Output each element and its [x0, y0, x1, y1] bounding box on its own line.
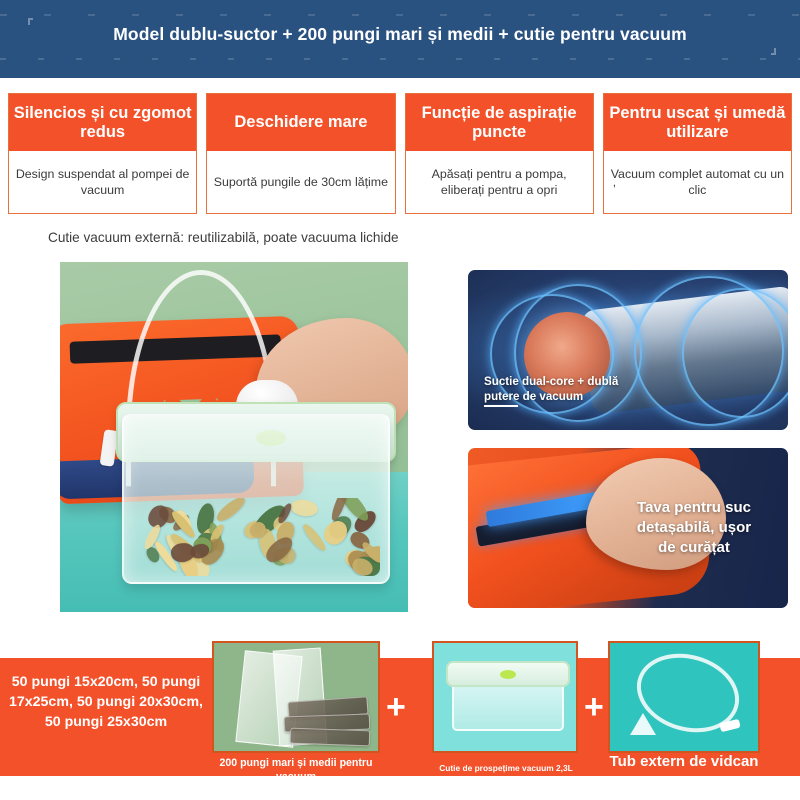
feature-card-lead-mark: ,	[613, 175, 616, 191]
thumbnail-vacuum-bags	[212, 641, 380, 753]
tray-caption-line-3: de curățat	[658, 539, 730, 556]
panel-removable-tray: Tava pentru suc detașabilă, ușor de cură…	[468, 448, 788, 608]
hero-product-photo	[60, 262, 408, 612]
section-caption: Cutie vacuum externă: reutilizabilă, poa…	[48, 230, 399, 245]
banner-corner-mark-right	[771, 48, 776, 55]
feature-card-dry-wet: Pentru uscat și umedă utilizare , Vacuum…	[603, 93, 792, 214]
banner-tick-decor-bottom	[0, 58, 800, 60]
bundle-bag-sizes-text: 50 pungi 15x20cm, 50 pungi 17x25cm, 50 p…	[6, 672, 206, 732]
feature-card-body: Apăsați pentru a pompa, eliberați pentru…	[406, 151, 593, 213]
banner-title: Model dublu-suctor + 200 pungi mari și m…	[0, 24, 800, 45]
thumbnail-caption-bags: 200 pungi mari și medii pentru vacuum	[206, 757, 386, 785]
feature-card-title: Silencios și cu zgomot redus	[9, 94, 196, 151]
feature-card-quiet: Silencios și cu zgomot redus Design susp…	[8, 93, 197, 214]
feature-card-title: Pentru uscat și umedă utilizare	[604, 94, 791, 151]
feature-card-title: Funcție de aspirație puncte	[406, 94, 593, 151]
thumbnail-caption-container: Cutie de prospețime vacuum 2,3L	[418, 763, 594, 774]
thumbnail-vacuum-container	[432, 641, 578, 753]
thumbnail-external-tube	[608, 641, 760, 753]
feature-card-body: Design suspendat al pompei de vacuum	[9, 151, 196, 213]
dried-fruit-contents	[132, 498, 380, 576]
plus-symbol-2: +	[584, 690, 604, 724]
feature-card-spot-suction: Funcție de aspirație puncte Apăsați pent…	[405, 93, 594, 214]
tray-caption-line-2: detașabilă, ușor	[637, 519, 751, 536]
sealed-packet-art	[290, 728, 371, 747]
feature-card-row: Silencios și cu zgomot redus Design susp…	[8, 93, 792, 214]
tray-caption-line-1: Tava pentru suc	[637, 499, 751, 516]
header-banner: Model dublu-suctor + 200 pungi mari și m…	[0, 0, 800, 78]
container-valve-dot-art	[500, 670, 516, 679]
product-marketing-page: Model dublu-suctor + 200 pungi mari și m…	[0, 0, 800, 800]
panel-dual-core-motor: Suctie dual-core + dublă putere de vacuu…	[468, 270, 788, 430]
feature-card-body: Suportă pungile de 30cm lățime	[207, 151, 394, 213]
motor-caption-line-1: Suctie dual-core + dublă	[484, 374, 618, 389]
feature-card-title: Deschidere mare	[207, 94, 394, 151]
plus-symbol-1: +	[386, 690, 406, 724]
tray-caption: Tava pentru suc detașabilă, ușor de cură…	[614, 498, 774, 557]
feature-card-body: , Vacuum complet automat cu un clic	[604, 151, 791, 213]
thumbnail-caption-tube: Tub extern de vidcan	[604, 752, 764, 772]
feature-card-wide-opening: Deschidere mare Suportă pungile de 30cm …	[206, 93, 395, 214]
motor-caption-line-2: putere de vacuum	[484, 389, 618, 404]
motor-caption-underline	[484, 405, 518, 407]
motor-caption: Suctie dual-core + dublă putere de vacuu…	[484, 374, 618, 404]
feature-card-body-text: Vacuum complet automat cu un clic	[610, 166, 785, 198]
